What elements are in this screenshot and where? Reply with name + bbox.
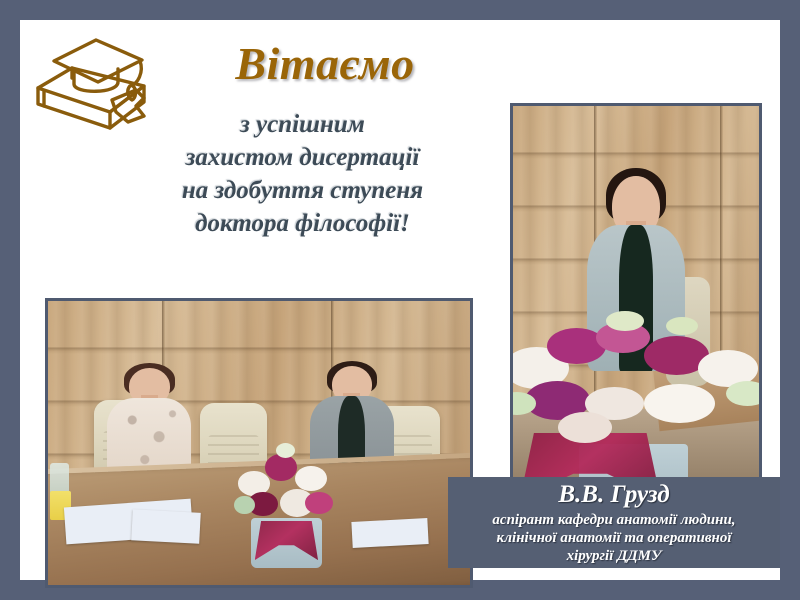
poster-header: Вітаємо з успішним захистом дисертації н… (20, 20, 490, 280)
poster-page: Вітаємо з успішним захистом дисертації н… (20, 20, 780, 580)
person-name: В.В. Грузд (448, 481, 780, 510)
photo-presidium-scene (48, 301, 470, 585)
water-bottle (50, 463, 69, 494)
flower-bouquet (510, 308, 762, 498)
person-role: аспірант кафедри анатомії людини, клініч… (448, 511, 780, 566)
papers (132, 509, 201, 544)
page-title: Вітаємо (170, 40, 480, 88)
subtitle-line-1: з успішним (125, 108, 480, 141)
role-line-1: аспірант кафедри анатомії людини, (448, 511, 780, 529)
role-line-2: клінічної анатомії та оперативної (448, 529, 780, 547)
caption-plate: В.В. Грузд аспірант кафедри анатомії люд… (448, 477, 780, 568)
blooms (510, 308, 762, 448)
papers (351, 518, 428, 547)
photo-portrait (510, 103, 762, 498)
subtitle-line-3: на здобуття ступеня (125, 174, 480, 207)
subtitle-line-2: захистом дисертації (125, 141, 480, 174)
subtitle-text: з успішним захистом дисертації на здобут… (125, 108, 480, 240)
photo-presidium (45, 298, 473, 588)
subtitle-line-4: доктора філософії! (125, 207, 480, 240)
role-line-3: хірургії ДДМУ (448, 547, 780, 565)
congratulations-poster: Вітаємо з успішним захистом дисертації н… (0, 0, 800, 600)
photo-portrait-scene (513, 106, 759, 495)
flower-bouquet (234, 437, 340, 568)
blooms (234, 437, 340, 531)
